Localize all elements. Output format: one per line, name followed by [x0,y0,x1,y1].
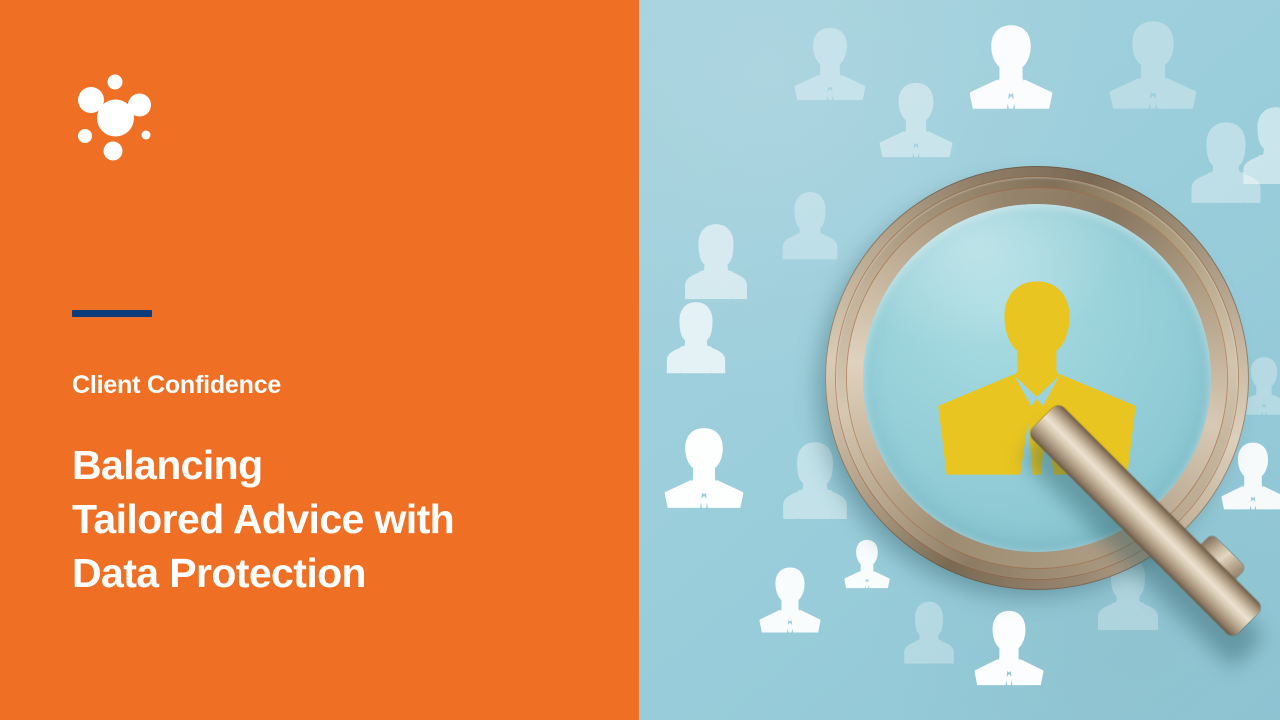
person-icon-male-4 [1109,18,1197,112]
magnifying-glass-icon [825,166,1249,590]
eyebrow-label: Client Confidence [72,372,592,400]
text-block: Client Confidence Balancing Tailored Adv… [72,310,592,600]
magnifier-lens [863,204,1211,552]
headline-line-2: Tailored Advice with [72,492,592,546]
person-icon-female-6 [901,600,957,666]
person-icon-male-1 [794,25,866,103]
person-icon-female-2 [681,222,751,302]
left-content-panel: Client Confidence Balancing Tailored Adv… [0,0,639,720]
dotted-circle-logo [70,72,160,162]
person-icon-male-2 [879,80,953,160]
headline-line-1: Balancing [72,438,592,492]
hero-image-panel [639,0,1280,720]
person-icon-male-7 [759,565,821,635]
headline-line-3: Data Protection [72,546,592,600]
person-icon-male-8 [974,608,1044,688]
person-icon-female-4 [663,300,729,376]
person-icon-male-5 [664,425,744,511]
page-title: Balancing Tailored Advice with Data Prot… [72,438,592,600]
person-icon-male-3 [969,22,1053,112]
accent-bar [72,310,152,317]
slide-root: Client Confidence Balancing Tailored Adv… [0,0,1280,720]
